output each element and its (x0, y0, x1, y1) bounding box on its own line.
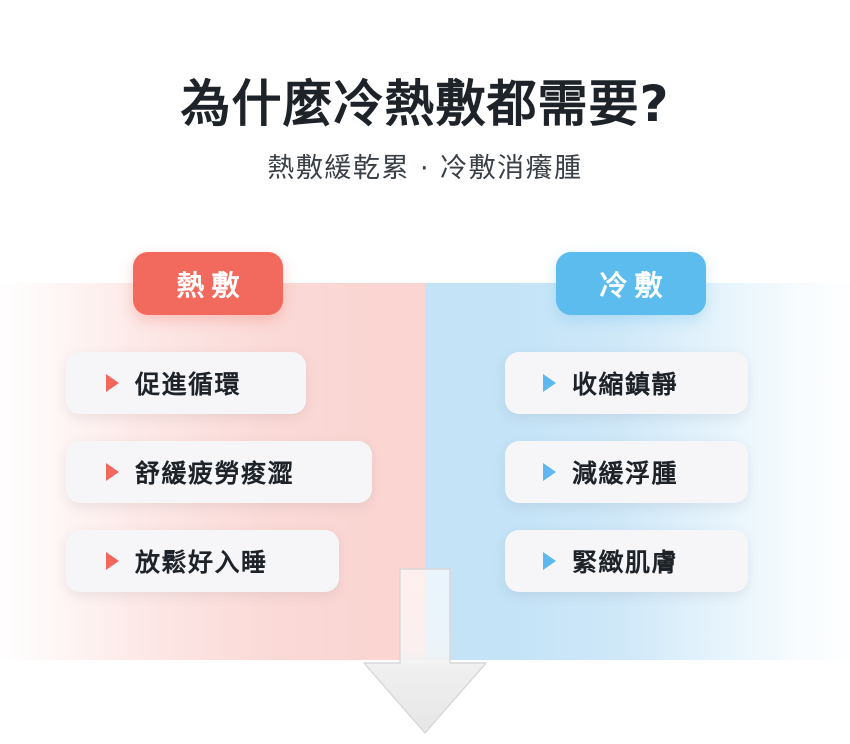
benefit-card-cold-2: 減緩浮腫 (505, 441, 748, 503)
benefit-label: 促進循環 (135, 365, 241, 401)
triangle-bullet-icon (106, 552, 119, 570)
benefit-card-hot-3: 放鬆好入睡 (66, 530, 339, 592)
page-title: 為什麼冷熱敷都需要? (0, 0, 850, 133)
benefit-label: 放鬆好入睡 (135, 543, 268, 579)
benefit-card-cold-1: 收縮鎮靜 (505, 352, 748, 414)
header: 為什麼冷熱敷都需要? 熱敷緩乾累 · 冷敷消癢腫 (0, 0, 850, 185)
benefit-card-cold-3: 緊緻肌膚 (505, 530, 748, 592)
benefit-card-hot-1: 促進循環 (66, 352, 306, 414)
page-subtitle: 熱敷緩乾累 · 冷敷消癢腫 (0, 133, 850, 185)
benefit-label: 收縮鎮靜 (572, 365, 678, 401)
badge-cold-compress: 冷敷 (556, 252, 706, 315)
badge-hot-compress: 熱敷 (133, 252, 283, 315)
scroll-down-arrow (361, 567, 489, 737)
triangle-bullet-icon (106, 374, 119, 392)
benefit-label: 緊緻肌膚 (572, 543, 678, 579)
triangle-bullet-icon (543, 463, 556, 481)
arrow-down-icon (361, 567, 489, 737)
benefit-card-hot-2: 舒緩疲勞痠澀 (66, 441, 372, 503)
benefit-label: 減緩浮腫 (572, 454, 678, 490)
triangle-bullet-icon (106, 463, 119, 481)
benefit-label: 舒緩疲勞痠澀 (135, 454, 294, 490)
infographic-canvas: 為什麼冷熱敷都需要? 熱敷緩乾累 · 冷敷消癢腫 熱敷 冷敷 促進循環 舒緩疲勞… (0, 0, 850, 744)
triangle-bullet-icon (543, 374, 556, 392)
triangle-bullet-icon (543, 552, 556, 570)
